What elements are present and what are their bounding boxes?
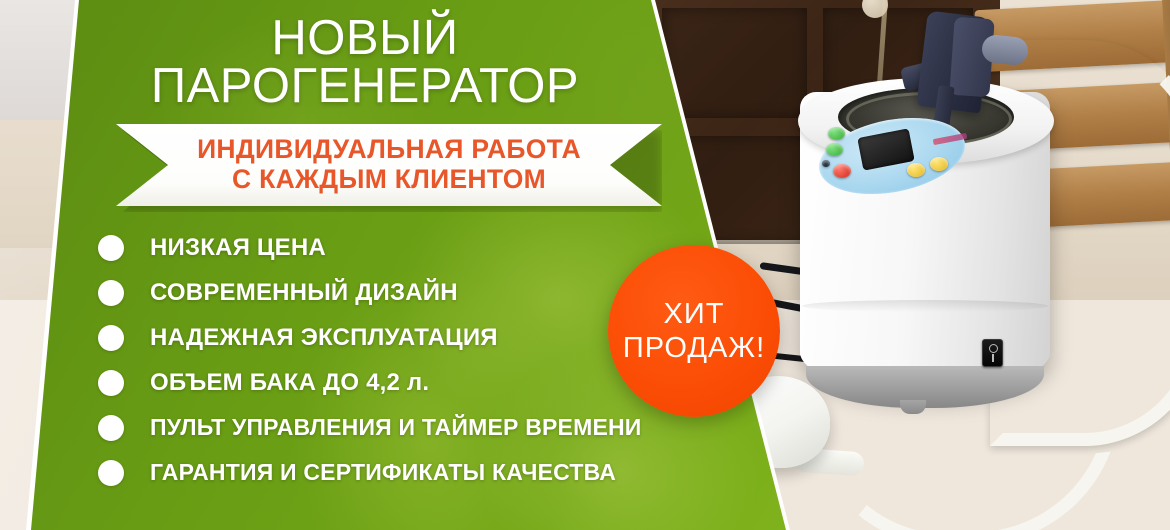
yellow-button[interactable] <box>907 163 925 177</box>
bullet-dot-icon <box>98 280 124 306</box>
list-item: ОБЪЕМ БАКА ДО 4,2 л. <box>98 360 698 405</box>
list-item: СОВРЕМЕННЫЙ ДИЗАЙН <box>98 270 698 315</box>
page-title: НОВЫЙ ПАРОГЕНЕРАТОР <box>80 14 650 110</box>
status-led <box>822 160 830 167</box>
badge-line-2: ПРОДАЖ! <box>623 331 765 365</box>
generator-body-seam <box>802 300 1048 312</box>
feature-label: СОВРЕМЕННЫЙ ДИЗАЙН <box>150 279 458 307</box>
ribbon-line-1: ИНДИВИДУАЛЬНАЯ РАБОТА <box>197 135 581 165</box>
yellow-button[interactable] <box>930 157 948 171</box>
feature-label: ГАРАНТИЯ И СЕРТИФИКАТЫ КАЧЕСТВА <box>150 459 616 486</box>
promo-banner: НОВЫЙ ПАРОГЕНЕРАТОР ИНДИВИДУАЛЬНАЯ РАБОТ… <box>0 0 1170 530</box>
bullet-dot-icon <box>98 325 124 351</box>
green-button[interactable] <box>828 127 845 140</box>
badge-line-1: ХИТ <box>664 297 725 331</box>
green-button[interactable] <box>826 143 843 156</box>
feature-list: НИЗКАЯ ЦЕНА СОВРЕМЕННЫЙ ДИЗАЙН НАДЕЖНАЯ … <box>98 225 698 495</box>
red-button[interactable] <box>833 164 851 178</box>
headline-line-2: ПАРОГЕНЕРАТОР <box>80 62 650 110</box>
bullet-dot-icon <box>98 370 124 396</box>
feature-label: НАДЕЖНАЯ ЭКСПЛУАТАЦИЯ <box>150 324 498 352</box>
list-item: ГАРАНТИЯ И СЕРТИФИКАТЫ КАЧЕСТВА <box>98 450 698 495</box>
feature-label: ПУЛЬТ УПРАВЛЕНИЯ И ТАЙМЕР ВРЕМЕНИ <box>150 414 642 441</box>
bullet-dot-icon <box>98 415 124 441</box>
bullet-dot-icon <box>98 460 124 486</box>
list-item: НИЗКАЯ ЦЕНА <box>98 225 698 270</box>
feature-label: ОБЪЕМ БАКА ДО 4,2 л. <box>150 369 429 397</box>
ribbon-line-2: С КАЖДЫМ КЛИЕНТОМ <box>232 165 546 195</box>
status-badge: ХИТ ПРОДАЖ! <box>608 245 780 417</box>
list-item: ПУЛЬТ УПРАВЛЕНИЯ И ТАЙМЕР ВРЕМЕНИ <box>98 405 698 450</box>
feature-label: НИЗКАЯ ЦЕНА <box>150 234 326 262</box>
power-switch[interactable] <box>982 339 1003 367</box>
bullet-dot-icon <box>98 235 124 261</box>
headline-line-1: НОВЫЙ <box>80 14 650 62</box>
ribbon-banner: ИНДИВИДУАЛЬНАЯ РАБОТА С КАЖДЫМ КЛИЕНТОМ <box>116 124 662 206</box>
